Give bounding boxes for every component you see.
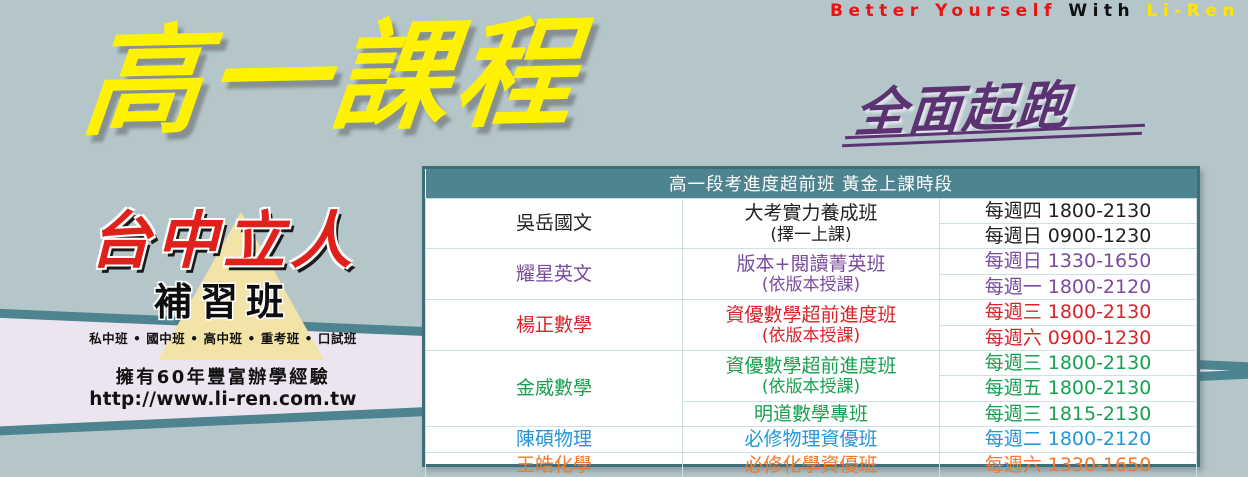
cell-time: 每週五 1800-2130 [940, 376, 1197, 401]
table-row: 陳碩物理 必修物理資優班 每週二 1800-2120 [426, 427, 1197, 452]
schedule-table-container: 高一段考進度超前班 黃金上課時段 吳岳國文 大考實力養成班 (擇一上課) 每週四… [422, 166, 1200, 467]
cell-teacher: 王皓化學 [426, 452, 683, 477]
poster-canvas: Better Yourself With Li-Ren 高一課程 全面起跑 台中… [0, 0, 1248, 477]
course-line-2: (依版本授課) [687, 326, 935, 346]
tagline: Better Yourself With Li-Ren [830, 1, 1240, 21]
cell-time: 每週四 1800-2130 [940, 198, 1197, 223]
course-line-2: (依版本授課) [687, 275, 935, 295]
cell-teacher: 吳岳國文 [426, 198, 683, 249]
course-line-1: 資優數學超前進度班 [725, 355, 896, 377]
table-row: 王皓化學 必修化學資優班 每週六 1330-1650 [426, 452, 1197, 477]
course-line-1: 資優數學超前進度班 [725, 304, 896, 326]
brand-logo: 台中立人 補習班 私中班 • 國中班 • 高中班 • 重考班 • 口試班 擁有6… [48, 208, 398, 410]
table-row: 楊正數學 資優數學超前進度班 (依版本授課) 每週三 1800-2130 [426, 300, 1197, 325]
cell-time: 每週六 0900-1230 [940, 325, 1197, 350]
cell-course: 必修化學資優班 [683, 452, 940, 477]
logo-subname: 補習班 [48, 271, 398, 326]
cell-course: 大考實力養成班 (擇一上課) [683, 198, 940, 249]
course-line-1: 大考實力養成班 [744, 202, 877, 224]
course-line-1: 版本+閱讀菁英班 [737, 253, 886, 275]
page-title: 高一課程 [77, 7, 586, 150]
cell-teacher: 楊正數學 [426, 300, 683, 351]
cell-time: 每週三 1815-2130 [940, 401, 1197, 426]
table-header-title: 高一段考進度超前班 黃金上課時段 [426, 169, 1197, 198]
table-header-row: 高一段考進度超前班 黃金上課時段 [426, 169, 1197, 198]
cell-course: 必修物理資優班 [683, 427, 940, 452]
course-line-2: (擇一上課) [687, 225, 935, 245]
logo-class-list: 私中班 • 國中班 • 高中班 • 重考班 • 口試班 [48, 328, 398, 347]
cell-teacher: 陳碩物理 [426, 427, 683, 452]
table-row: 吳岳國文 大考實力養成班 (擇一上課) 每週四 1800-2130 [426, 198, 1197, 223]
logo-name: 台中立人 [48, 208, 398, 273]
schedule-table: 高一段考進度超前班 黃金上課時段 吳岳國文 大考實力養成班 (擇一上課) 每週四… [425, 169, 1197, 477]
cell-course: 資優數學超前進度班 (依版本授課) [683, 350, 940, 401]
table-row: 金威數學 資優數學超前進度班 (依版本授課) 每週三 1800-2130 [426, 350, 1197, 375]
course-line-2: (依版本授課) [687, 377, 935, 397]
cell-time: 每週一 1800-2120 [940, 274, 1197, 299]
cell-course: 版本+閱讀菁英班 (依版本授課) [683, 249, 940, 300]
cell-time: 每週六 1330-1650 [940, 452, 1197, 477]
tagline-part1: Better Yourself [830, 1, 1057, 21]
cell-time: 每週三 1800-2130 [940, 300, 1197, 325]
logo-experience: 擁有60年豐富辦學經驗 [48, 363, 398, 389]
tagline-part2: With [1068, 1, 1135, 21]
cell-time: 每週三 1800-2130 [940, 350, 1197, 375]
cell-course: 明道數學專班 [683, 401, 940, 426]
table-row: 耀星英文 版本+閱讀菁英班 (依版本授課) 每週日 1330-1650 [426, 249, 1197, 274]
cell-time: 每週日 0900-1230 [940, 223, 1197, 248]
cell-time: 每週二 1800-2120 [940, 427, 1197, 452]
tagline-part3: Li-Ren [1147, 1, 1240, 21]
logo-website-url[interactable]: http://www.li-ren.com.tw [48, 389, 398, 410]
cell-course: 資優數學超前進度班 (依版本授課) [683, 300, 940, 351]
cell-teacher: 金威數學 [426, 350, 683, 426]
cell-time: 每週日 1330-1650 [940, 249, 1197, 274]
cell-teacher: 耀星英文 [426, 249, 683, 300]
